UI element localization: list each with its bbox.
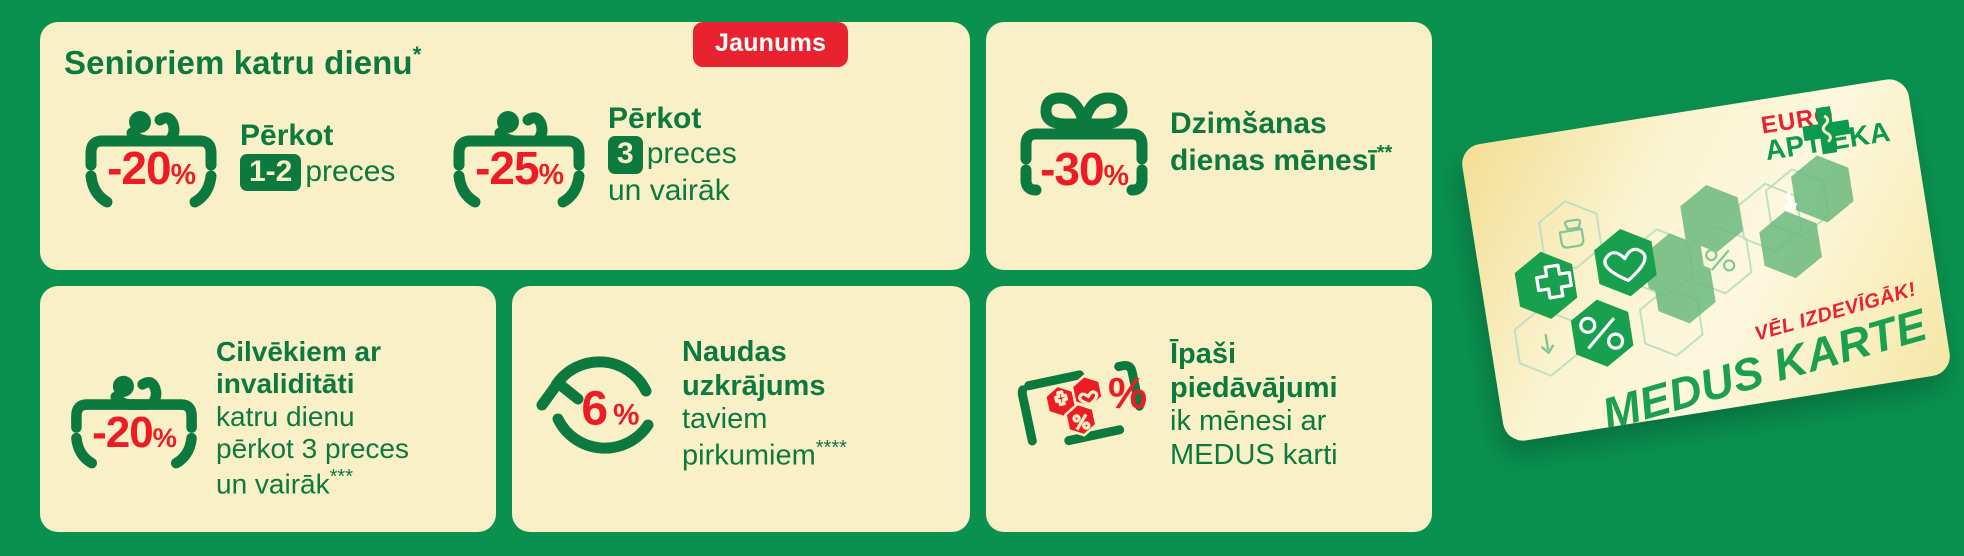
offer-line-2: invaliditāti bbox=[216, 368, 409, 400]
offer-line-2: 1-2preces bbox=[240, 154, 395, 191]
offer-line-2: dienas mēnesī** bbox=[1170, 142, 1392, 179]
qty-chip: 3 bbox=[608, 136, 643, 173]
offer-footnote: **** bbox=[816, 437, 847, 459]
discount-value: -20% bbox=[92, 408, 176, 458]
purse-icon: -25% bbox=[444, 100, 594, 210]
offer-text: Cilvēkiem ar invaliditāti katru dienu pē… bbox=[216, 336, 409, 501]
headline-footnote: * bbox=[413, 42, 422, 67]
offer-cashback: 6% Naudas uzkrājums taviem pirkumiem**** bbox=[536, 336, 847, 473]
svg-text:%: % bbox=[1108, 369, 1147, 418]
offer-line-2-rest: preces bbox=[647, 137, 737, 170]
new-badge: Jaunums bbox=[693, 22, 848, 67]
offer-line-4: pirkumiem**** bbox=[682, 437, 847, 473]
offer-line-3: taviem bbox=[682, 403, 847, 437]
offer-line-3: ik mēnesi ar bbox=[1170, 405, 1338, 439]
offer-text: Dzimšanas dienas mēnesī** bbox=[1170, 107, 1392, 179]
offer-line-1: Cilvēkiem ar bbox=[216, 336, 409, 368]
page-title: Senioriem katru dienu* bbox=[64, 42, 421, 82]
offer-line-1: Pērkot bbox=[608, 102, 737, 137]
offer-line-3: un vairāk bbox=[608, 174, 737, 209]
card-special-offers: % Īpaši piedāvājumi ik mēnesi ar MEDUS k… bbox=[986, 286, 1432, 532]
offer-line-3: katru dienu bbox=[216, 401, 409, 433]
purse-icon: -20% bbox=[76, 100, 226, 210]
offer-line-2: uzkrājums bbox=[682, 370, 847, 404]
offer-birthday: -30% Dzimšanas dienas mēnesī** bbox=[1014, 84, 1392, 202]
purse-icon: -20% bbox=[62, 364, 206, 472]
card-disability: -20% Cilvēkiem ar invaliditāti katru die… bbox=[40, 286, 496, 532]
offer-line-5: un vairāk*** bbox=[216, 466, 409, 501]
promo-banner: Senioriem katru dienu* bbox=[0, 0, 1964, 556]
discount-value: -20% bbox=[107, 141, 195, 195]
offer-text: Naudas uzkrājums taviem pirkumiem**** bbox=[682, 336, 847, 473]
offer-disability: -20% Cilvēkiem ar invaliditāti katru die… bbox=[62, 336, 409, 501]
offer-line-2: piedāvājumi bbox=[1170, 372, 1338, 406]
offer-special: % Īpaši piedāvājumi ik mēnesi ar MEDUS k… bbox=[1012, 338, 1338, 473]
loyalty-card-icon: % bbox=[1012, 340, 1162, 470]
offer-footnote: ** bbox=[1377, 142, 1393, 164]
offer-footnote: *** bbox=[330, 466, 353, 488]
offer-text: Pērkot 3preces un vairāk bbox=[608, 102, 737, 209]
offer-card-grid: Senioriem katru dienu* bbox=[40, 22, 1432, 532]
discount-value: -30% bbox=[1040, 142, 1128, 196]
offer-line-4: pērkot 3 preces bbox=[216, 433, 409, 465]
offer-line-4: MEDUS karti bbox=[1170, 439, 1338, 473]
offer-line-1: Naudas bbox=[682, 336, 847, 370]
offer-line-1: Dzimšanas bbox=[1170, 107, 1392, 142]
offer-senior-1-2: -20% Pērkot 1-2preces bbox=[76, 100, 395, 210]
headline-text: Senioriem katru dienu bbox=[64, 44, 413, 81]
qty-chip: 1-2 bbox=[240, 154, 301, 191]
offer-line-2-rest: preces bbox=[305, 155, 395, 188]
cashback-value: 6% bbox=[581, 381, 638, 436]
offer-line-1: Pērkot bbox=[240, 119, 395, 154]
medus-loyalty-card: EURO APTIEKA VĒL IZDEVĪGĀK! MEDUS KARTE bbox=[1459, 76, 1952, 443]
card-cashback: 6% Naudas uzkrājums taviem pirkumiem**** bbox=[512, 286, 970, 532]
gift-icon: -30% bbox=[1014, 84, 1154, 202]
offer-line-1: Īpaši bbox=[1170, 338, 1338, 372]
card-birthday: -30% Dzimšanas dienas mēnesī** bbox=[986, 22, 1432, 270]
discount-value: -25% bbox=[475, 141, 563, 195]
offer-line-2: 3preces bbox=[608, 136, 737, 173]
offer-senior-3-plus: -25% Pērkot 3preces un vairāk bbox=[444, 100, 737, 210]
offer-text: Pērkot 1-2preces bbox=[240, 119, 395, 191]
offer-text: Īpaši piedāvājumi ik mēnesi ar MEDUS kar… bbox=[1170, 338, 1338, 473]
circular-arrow-icon: 6% bbox=[536, 339, 668, 471]
